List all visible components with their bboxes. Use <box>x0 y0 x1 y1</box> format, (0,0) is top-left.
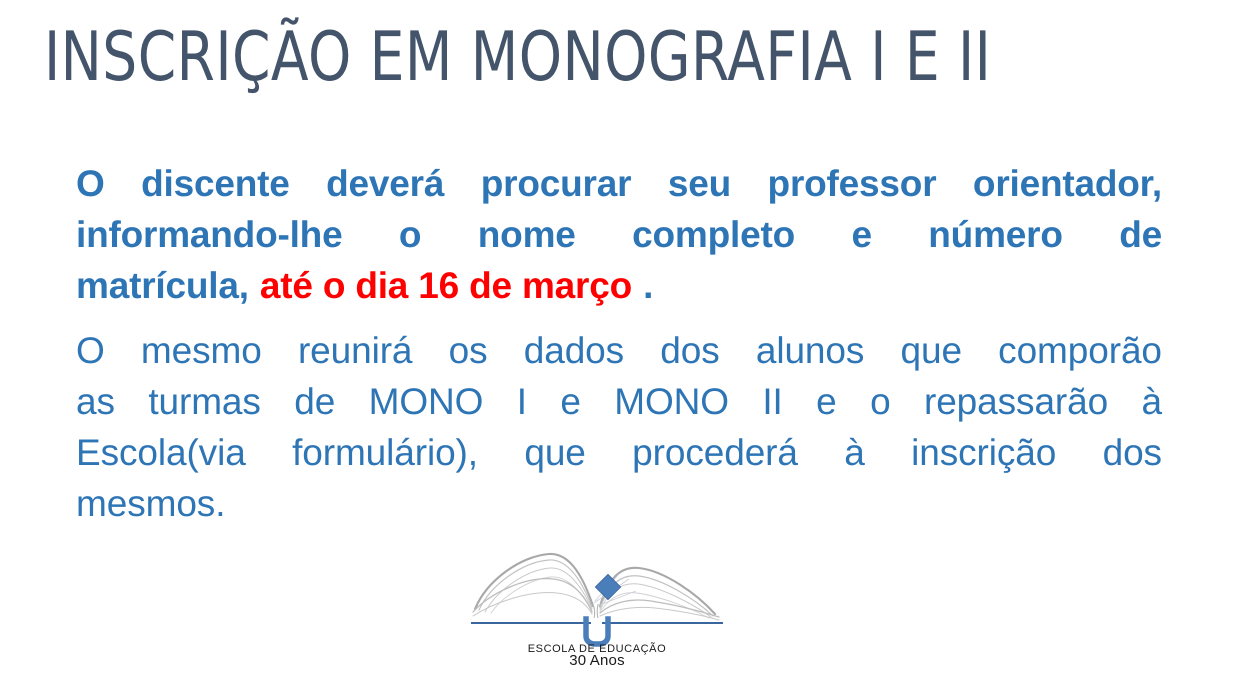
word: repassarão <box>924 376 1108 427</box>
word: II <box>762 376 782 427</box>
word: à <box>844 427 864 478</box>
paragraph-2-line-1: O mesmo reunirá os dados dos alunos que … <box>76 325 1162 376</box>
paragraph-1-line-2: informando-lhe o nome completo e número … <box>76 209 1162 260</box>
word: dados <box>524 325 624 376</box>
word: MONO <box>614 376 729 427</box>
word: matrícula, <box>76 260 249 311</box>
word: seu <box>668 158 731 209</box>
word: orientador, <box>973 158 1162 209</box>
word: nome <box>478 209 576 260</box>
word: completo <box>632 209 795 260</box>
word: discente <box>141 158 290 209</box>
paragraph-1-line-1: O discente deverá procurar seu professor… <box>76 158 1162 209</box>
word: o <box>870 376 890 427</box>
word: mesmo <box>141 325 262 376</box>
open-book-left-page <box>473 554 593 616</box>
word: dos <box>1103 427 1162 478</box>
sentence-period: . <box>643 260 653 311</box>
word: procederá <box>632 427 798 478</box>
word: o <box>399 209 421 260</box>
word: I <box>517 376 527 427</box>
word: informando-lhe <box>76 209 342 260</box>
paragraph-2-line-4: mesmos. <box>76 478 1162 529</box>
word: e <box>816 376 836 427</box>
word: professor <box>768 158 937 209</box>
word: e <box>851 209 871 260</box>
word: e <box>560 376 580 427</box>
paragraph-2-line-3: Escola(via formulário), que procederá à … <box>76 427 1162 478</box>
word: turmas <box>148 376 260 427</box>
word: O <box>76 158 105 209</box>
word: os <box>449 325 488 376</box>
slide-body: O discente deverá procurar seu professor… <box>76 158 1162 529</box>
word: reunirá <box>298 325 412 376</box>
book-spine-inner-icon <box>591 618 602 637</box>
paragraph-2-line-2: as turmas de MONO I e MONO II e o repass… <box>76 376 1162 427</box>
paragraph-1: O discente deverá procurar seu professor… <box>76 158 1162 311</box>
word: de <box>294 376 335 427</box>
word: O <box>76 325 105 376</box>
word: número <box>928 209 1062 260</box>
word: Escola(via <box>76 427 246 478</box>
word: à <box>1142 376 1162 427</box>
word: inscrição <box>911 427 1056 478</box>
escola-de-educacao-logo: ESCOLA DE EDUCAÇÃO 30 Anos <box>469 546 725 664</box>
word: que <box>901 325 962 376</box>
word: MONO <box>369 376 484 427</box>
word: de <box>1119 209 1162 260</box>
deadline-highlight: até o dia 16 de março <box>260 260 632 311</box>
word: alunos <box>756 325 864 376</box>
page-title: INSCRIÇÃO EM MONOGRAFIA I E II <box>44 12 1088 104</box>
paragraph-1-line-3: matrícula, até o dia 16 de março. <box>76 260 1162 311</box>
word: deverá <box>326 158 444 209</box>
word: dos <box>660 325 719 376</box>
word: formulário), <box>292 427 478 478</box>
word: procurar <box>481 158 632 209</box>
word: comporão <box>998 325 1162 376</box>
paragraph-2: O mesmo reunirá os dados dos alunos que … <box>76 325 1162 529</box>
slide-canvas: INSCRIÇÃO EM MONOGRAFIA I E II O discent… <box>0 0 1235 677</box>
word: mesmos. <box>76 478 225 529</box>
word: as <box>76 376 115 427</box>
logo-secondary-text: 30 Anos <box>569 652 625 669</box>
word: que <box>524 427 585 478</box>
